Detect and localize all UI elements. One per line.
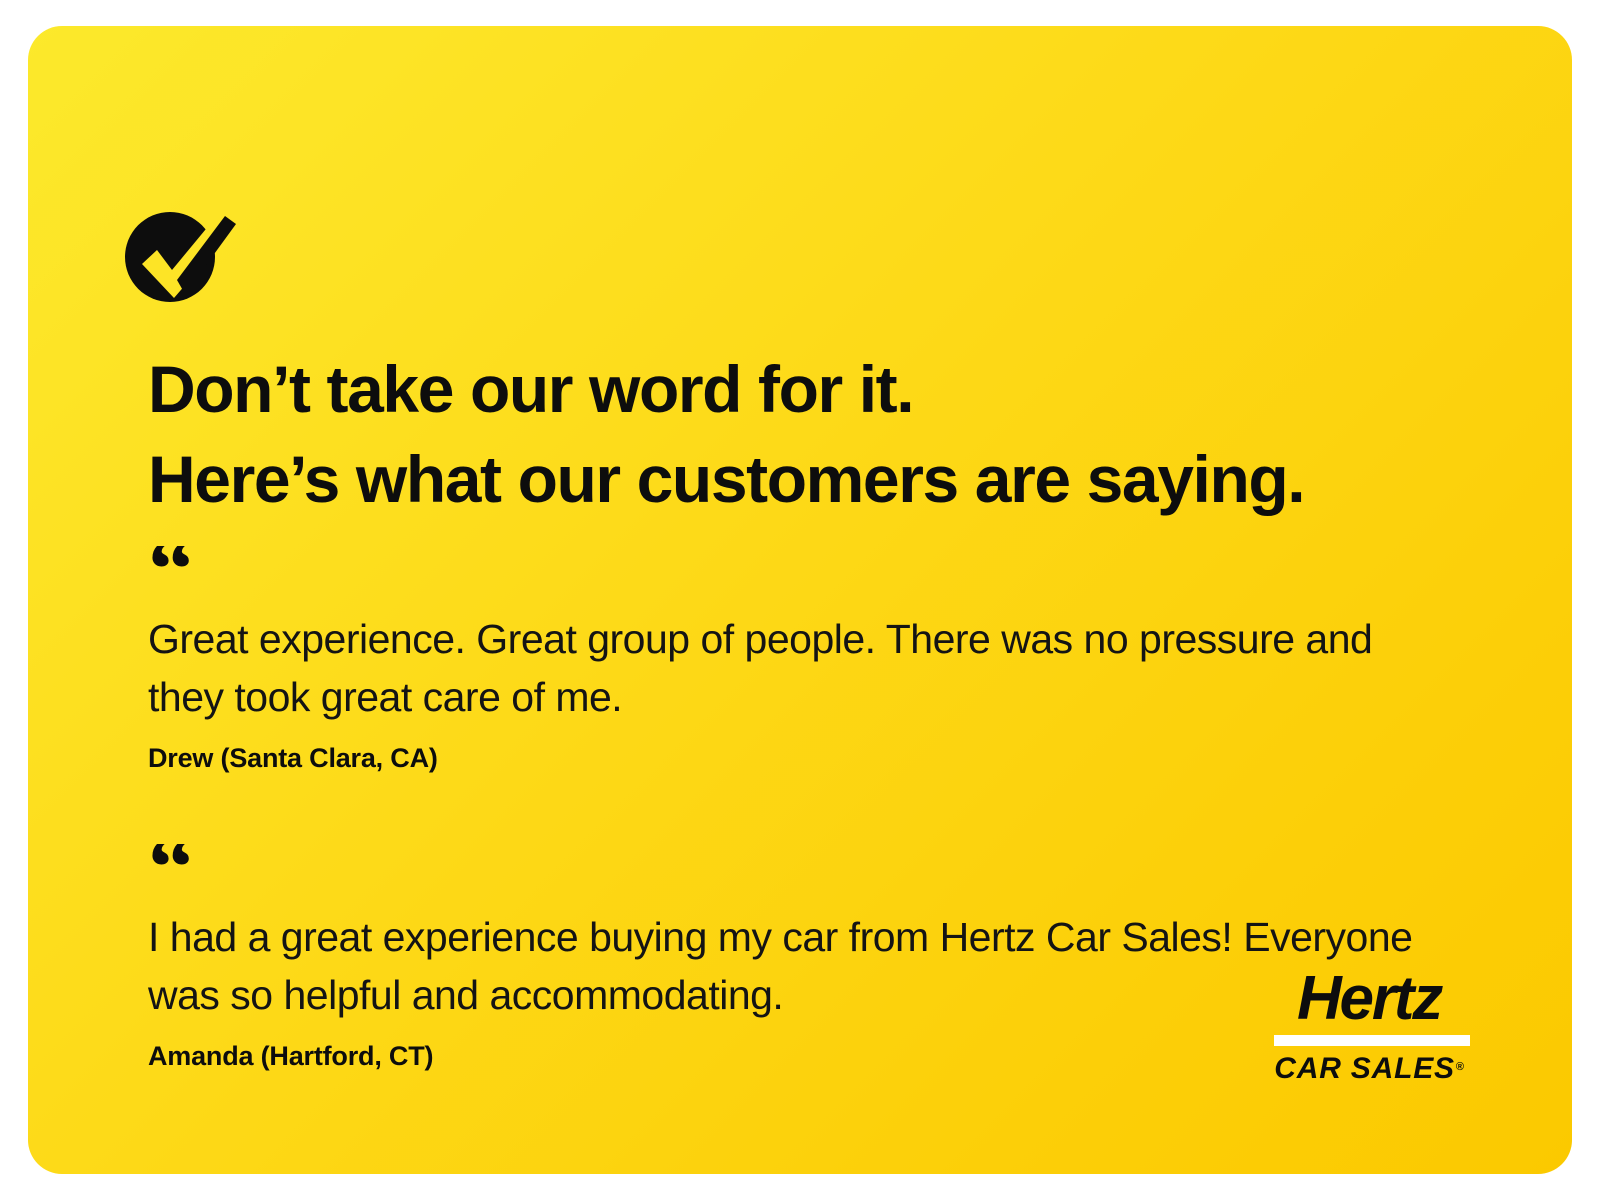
testimonial-item: “ Great experience. Great group of peopl… <box>148 546 1488 776</box>
logo-rule-divider <box>1274 1035 1470 1046</box>
logo-subtitle-text: CAR SALES <box>1274 1052 1455 1085</box>
headline-line-2: Here’s what our customers are saying. <box>148 434 1508 524</box>
testimonial-author: Drew (Santa Clara, CA) <box>148 740 1488 776</box>
hertz-car-sales-logo: Hertz CAR SALES® <box>1264 968 1474 1086</box>
hertz-wordmark: Hertz <box>1264 968 1474 1030</box>
registered-trademark-mark: ® <box>1456 1061 1465 1073</box>
screenshot-root: Don’t take our word for it. Here’s what … <box>0 0 1600 1200</box>
testimonial-card: Don’t take our word for it. Here’s what … <box>28 26 1572 1174</box>
page-title: Don’t take our word for it. Here’s what … <box>148 344 1508 524</box>
check-circle-icon <box>124 208 244 318</box>
quote-mark-icon: “ <box>148 844 1488 890</box>
logo-subtitle: CAR SALES® <box>1264 1052 1474 1086</box>
testimonial-text: I had a great experience buying my car f… <box>148 908 1458 1024</box>
testimonial-text: Great experience. Great group of people.… <box>148 610 1458 726</box>
quote-mark-icon: “ <box>148 546 1488 592</box>
headline-line-1: Don’t take our word for it. <box>148 344 1508 434</box>
